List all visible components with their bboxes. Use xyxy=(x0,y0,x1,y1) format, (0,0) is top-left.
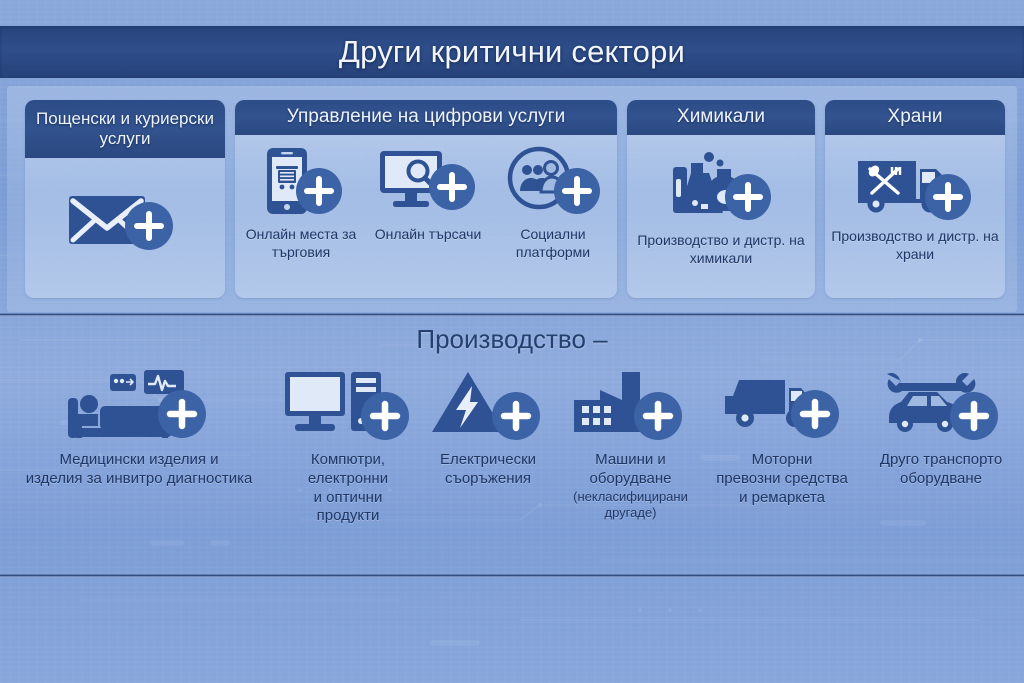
label-line: съоръжения xyxy=(440,470,536,489)
car-wrench-plus-icon xyxy=(877,366,1005,444)
computer-tower-plus-icon xyxy=(283,366,413,444)
label-line: Друго транспорто xyxy=(880,451,1002,470)
item-online-search-engines[interactable]: Онлайн търсачи xyxy=(372,145,484,244)
item-motor-vehicles[interactable]: Моторни превозни средства и ремаркета xyxy=(703,366,861,507)
hospital-bed-monitor-plus-icon xyxy=(64,366,214,444)
label-line: (некласифицирани xyxy=(573,489,688,505)
divider-upper xyxy=(0,313,1024,316)
smartphone-shopping-cart-plus-icon xyxy=(253,145,349,219)
section-title: Производство – xyxy=(0,324,1024,355)
card-postal-courier-title: Пощенски и куриерски услуги xyxy=(25,100,225,158)
slide-root: Други критични сектори Пощенски и куриер… xyxy=(0,0,1024,683)
factory-plus-icon xyxy=(570,366,692,444)
item-medical-devices-label: Медицински изделия и изделия за инвитро … xyxy=(26,451,253,489)
food-truck-plus-icon xyxy=(856,151,974,221)
item-other-transport-equipment-label: Друго транспорто оборудване xyxy=(880,451,1002,489)
item-online-marketplaces-label: Онлайн места за търговия xyxy=(240,226,362,261)
item-computers-electronics-label: Компютри, електронни и оптични продукти xyxy=(308,451,388,526)
label-line: изделия за инвитро диагностика xyxy=(26,470,253,489)
label-line: и ремаркета xyxy=(716,489,848,508)
item-online-marketplaces[interactable]: Онлайн места за търговия xyxy=(240,145,362,261)
card-postal-courier[interactable]: Пощенски и куриерски услуги xyxy=(25,100,225,298)
label-line: електронни xyxy=(308,470,388,489)
manufacturing-section: Производство – xyxy=(0,318,1024,573)
item-electrical-equipment[interactable]: Електрически съоръжения xyxy=(418,366,558,489)
page-title: Други критични сектори xyxy=(339,34,685,70)
item-electrical-equipment-label: Електрически съоръжения xyxy=(440,451,536,489)
envelope-plus-icon xyxy=(67,188,183,252)
label-line: превозни средства xyxy=(716,470,848,489)
label-line: оборудване xyxy=(880,470,1002,489)
item-machinery-equipment-label: Машини и оборудване (некласифицирани дру… xyxy=(573,451,688,521)
card-chemicals-title: Химикали xyxy=(627,100,815,135)
item-social-platforms-label: Социални платформи xyxy=(494,226,612,261)
item-machinery-equipment[interactable]: Машини и оборудване (некласифицирани дру… xyxy=(558,366,703,521)
label-line: Моторни xyxy=(716,451,848,470)
label-line: Електрически xyxy=(440,451,536,470)
slide-title-band: Други критични сектори xyxy=(0,26,1024,78)
item-computers-electronics[interactable]: Компютри, електронни и оптични продукти xyxy=(278,366,418,526)
social-group-plus-icon xyxy=(501,145,605,219)
card-food[interactable]: Храни xyxy=(825,100,1005,298)
label-line: продукти xyxy=(308,507,388,526)
card-digital-services[interactable]: Управление на цифрови услуги xyxy=(235,100,617,298)
label-line: Медицински изделия и xyxy=(26,451,253,470)
item-chemicals-production-label: Производство и дистр. на химикали xyxy=(635,232,807,267)
item-medical-devices[interactable]: Медицински изделия и изделия за инвитро … xyxy=(0,366,278,489)
divider-lower xyxy=(0,574,1024,577)
label-line: и оптични xyxy=(308,489,388,508)
label-line: оборудване xyxy=(573,470,688,489)
chemical-flasks-plus-icon xyxy=(665,149,777,225)
item-online-search-engines-label: Онлайн търсачи xyxy=(375,226,482,244)
card-digital-services-title: Управление на цифрови услуги xyxy=(235,100,617,135)
label-line: Компютри, xyxy=(308,451,388,470)
dump-truck-plus-icon xyxy=(719,366,845,444)
item-social-platforms[interactable]: Социални платформи xyxy=(494,145,612,261)
card-chemicals[interactable]: Химикали xyxy=(627,100,815,298)
item-other-transport-equipment[interactable]: Друго транспорто оборудване xyxy=(861,366,1021,489)
upper-sectors-panel: Пощенски и куриерски услуги xyxy=(7,86,1017,312)
item-food-production-label: Производство и дистр. на храни xyxy=(829,228,1001,263)
card-food-title: Храни xyxy=(825,100,1005,135)
item-food-production[interactable]: Производство и дистр. на храни xyxy=(829,151,1001,263)
electrical-hazard-plus-icon xyxy=(428,366,548,444)
item-motor-vehicles-label: Моторни превозни средства и ремаркета xyxy=(716,451,848,507)
item-postal-courier[interactable] xyxy=(67,188,183,252)
manufacturing-items-row: Медицински изделия и изделия за инвитро … xyxy=(0,366,1024,526)
label-line: Машини и xyxy=(573,451,688,470)
item-chemicals-production[interactable]: Производство и дистр. на химикали xyxy=(635,149,807,267)
label-line: другаде) xyxy=(573,505,688,521)
monitor-search-plus-icon xyxy=(376,145,480,219)
